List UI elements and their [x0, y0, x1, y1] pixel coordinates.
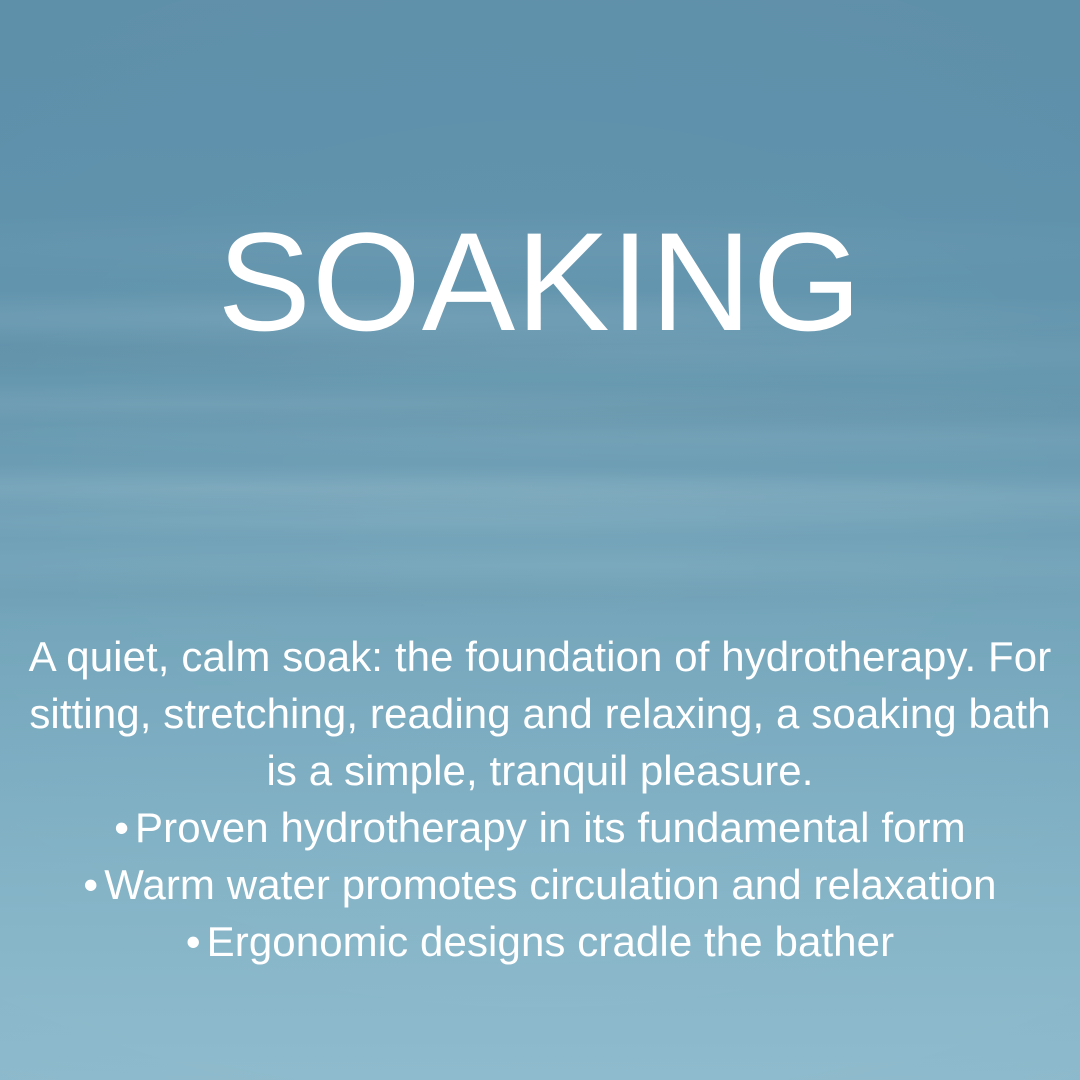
benefits-list: •Proven hydrotherapy in its fundamental … — [18, 799, 1062, 970]
bullet-dot-icon: • — [83, 856, 98, 913]
page-title: SOAKING — [0, 212, 1080, 352]
list-item-label: Warm water promotes circulation and rela… — [104, 861, 996, 908]
soaking-poster: SOAKING A quiet, calm soak: the foundati… — [0, 0, 1080, 1080]
body-content: A quiet, calm soak: the foundation of hy… — [18, 628, 1062, 970]
list-item: •Proven hydrotherapy in its fundamental … — [18, 799, 1062, 856]
list-item-label: Proven hydrotherapy in its fundamental f… — [135, 804, 966, 851]
bullet-dot-icon: • — [114, 799, 129, 856]
list-item: •Ergonomic designs cradle the bather — [18, 913, 1062, 970]
list-item: •Warm water promotes circulation and rel… — [18, 856, 1062, 913]
bullet-dot-icon: • — [186, 913, 201, 970]
list-item-label: Ergonomic designs cradle the bather — [207, 918, 895, 965]
description-paragraph: A quiet, calm soak: the foundation of hy… — [18, 628, 1062, 799]
